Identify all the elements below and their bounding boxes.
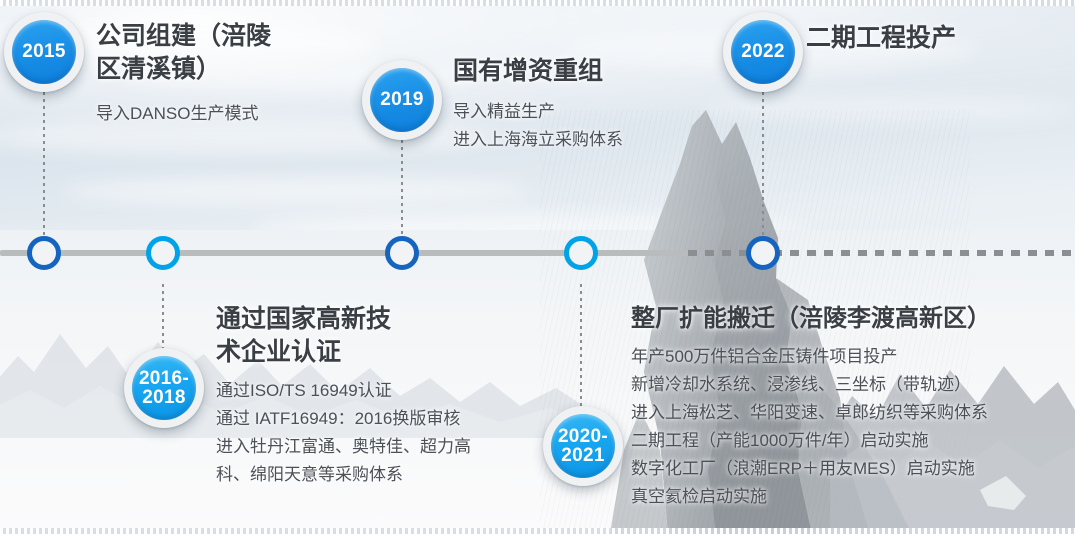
milestone-2019-heading: 国有增资重组 xyxy=(453,55,753,88)
axis-node-2015[interactable] xyxy=(27,236,61,270)
milestone-2022: 二期工程投产 xyxy=(806,22,1066,55)
milestone-2020-2021-heading: 整厂扩能搬迁（涪陵李渡高新区） xyxy=(631,303,1061,335)
year-badge-2019-label: 2019 xyxy=(370,68,434,132)
year-badge-2016-2018-label: 2016- 2018 xyxy=(132,356,196,420)
connector-2019 xyxy=(401,140,403,250)
year-badge-2015[interactable]: 2015 xyxy=(4,12,84,92)
year-line: 2021 xyxy=(561,446,604,465)
year-line: 2020- xyxy=(558,427,608,446)
year-badge-2019[interactable]: 2019 xyxy=(362,60,442,140)
milestone-2022-heading: 二期工程投产 xyxy=(806,22,1066,55)
year-line: 2016- xyxy=(139,369,189,388)
year-badge-2020-2021-label: 2020- 2021 xyxy=(551,414,615,478)
milestone-2015-body: 导入DANSO生产模式 xyxy=(96,100,356,128)
year-line: 2022 xyxy=(741,42,784,61)
year-line: 2019 xyxy=(380,90,423,109)
year-badge-2015-label: 2015 xyxy=(12,20,76,84)
milestone-2016-2018: 通过国家高新技 术企业认证 通过ISO/TS 16949认证 通过 IATF16… xyxy=(216,303,546,489)
milestone-2019-body: 导入精益生产 进入上海海立采购体系 xyxy=(453,98,753,154)
milestone-2015-heading: 公司组建（涪陵 区清溪镇） xyxy=(96,20,356,86)
cloud-band xyxy=(60,178,530,204)
connector-2022 xyxy=(762,92,764,250)
milestone-2015: 公司组建（涪陵 区清溪镇） 导入DANSO生产模式 xyxy=(96,20,356,128)
connector-2020-2021 xyxy=(580,284,582,410)
axis-node-2020-2021[interactable] xyxy=(564,236,598,270)
timeline-infographic: 2015 公司组建（涪陵 区清溪镇） 导入DANSO生产模式 2019 国有增资… xyxy=(0,0,1075,534)
year-badge-2022-label: 2022 xyxy=(731,20,795,84)
bottom-edge-strip xyxy=(0,528,1075,534)
milestone-2019: 国有增资重组 导入精益生产 进入上海海立采购体系 xyxy=(453,55,753,154)
axis-node-2016-2018[interactable] xyxy=(146,236,180,270)
connector-2015 xyxy=(43,92,45,250)
year-badge-2022[interactable]: 2022 xyxy=(723,12,803,92)
top-edge-strip xyxy=(0,0,1075,6)
milestone-2020-2021-body: 年产500万件铝合金压铸件项目投产 新增冷却水系统、浸渗线、三坐标（带轨迹） 进… xyxy=(631,343,1061,511)
milestone-2020-2021: 整厂扩能搬迁（涪陵李渡高新区） 年产500万件铝合金压铸件项目投产 新增冷却水系… xyxy=(631,303,1061,511)
milestone-2016-2018-heading: 通过国家高新技 术企业认证 xyxy=(216,303,546,369)
axis-node-2022[interactable] xyxy=(746,236,780,270)
axis-node-2019[interactable] xyxy=(385,236,419,270)
year-line: 2018 xyxy=(142,388,185,407)
year-badge-2016-2018[interactable]: 2016- 2018 xyxy=(124,348,204,428)
year-line: 2015 xyxy=(22,42,65,61)
connector-2016-2018 xyxy=(162,284,164,352)
milestone-2016-2018-body: 通过ISO/TS 16949认证 通过 IATF16949：2016换版审核 进… xyxy=(216,377,546,489)
year-badge-2020-2021[interactable]: 2020- 2021 xyxy=(543,406,623,486)
